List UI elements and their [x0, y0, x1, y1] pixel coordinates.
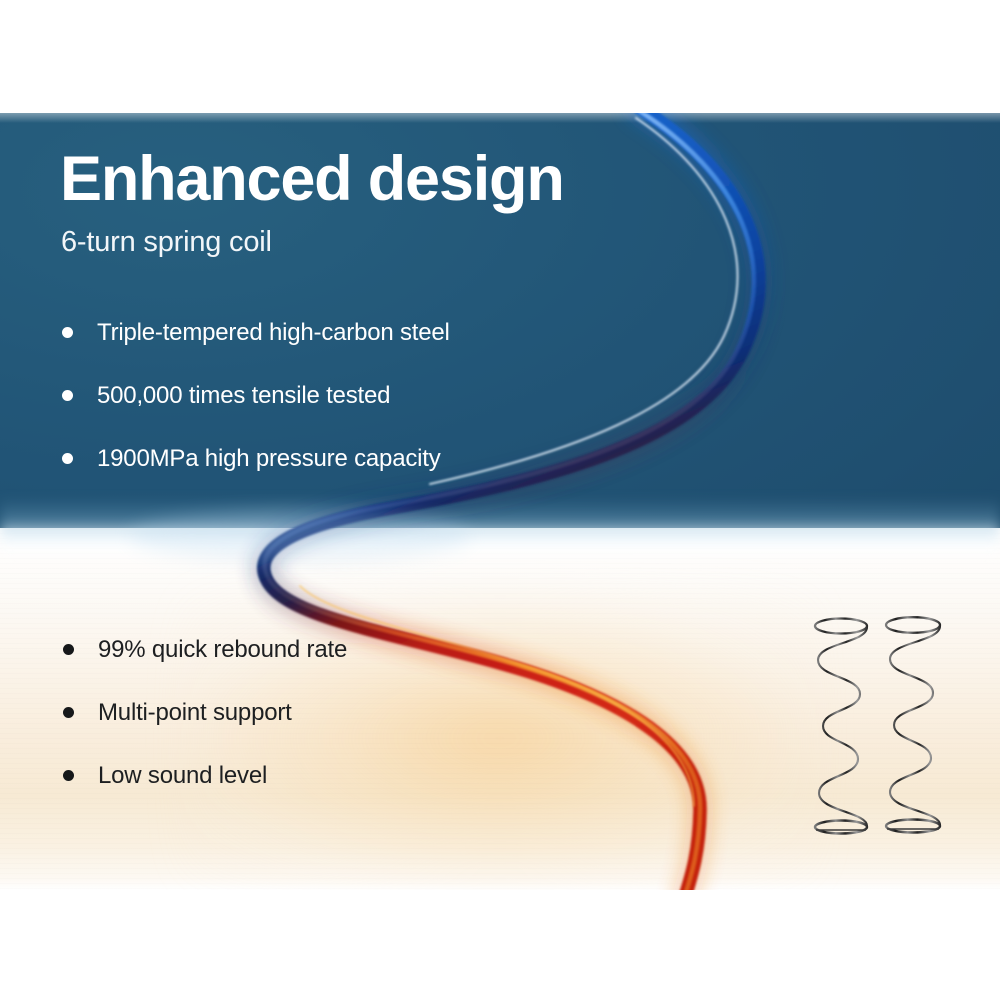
bottom-margin [0, 890, 1000, 1000]
list-item: Low sound level [63, 744, 347, 807]
list-item: 500,000 times tensile tested [62, 364, 450, 427]
top-margin [0, 0, 1000, 113]
bullet-dot-icon [63, 644, 74, 655]
bullet-dot-icon [63, 770, 74, 781]
feature-label: Triple-tempered high-carbon steel [97, 321, 450, 345]
bullet-dot-icon [62, 327, 73, 338]
list-item: Triple-tempered high-carbon steel [62, 301, 450, 364]
feature-label: 99% quick rebound rate [98, 638, 347, 662]
bullet-dot-icon [62, 390, 73, 401]
page-subtitle: 6-turn spring coil [61, 228, 272, 257]
bullet-dot-icon [63, 707, 74, 718]
product-feature-banner: Enhanced design 6-turn spring coil Tripl… [0, 0, 1000, 1000]
page-title: Enhanced design [60, 148, 564, 211]
list-item: 1900MPa high pressure capacity [62, 427, 450, 490]
list-item: Multi-point support [63, 681, 347, 744]
feature-label: Low sound level [98, 764, 267, 788]
feature-list-lower: 99% quick rebound rate Multi-point suppo… [63, 618, 347, 807]
feature-label: 500,000 times tensile tested [97, 384, 390, 408]
feature-label: Multi-point support [98, 701, 292, 725]
bullet-dot-icon [62, 453, 73, 464]
feature-list-upper: Triple-tempered high-carbon steel 500,00… [62, 301, 450, 490]
feature-label: 1900MPa high pressure capacity [97, 447, 441, 471]
list-item: 99% quick rebound rate [63, 618, 347, 681]
